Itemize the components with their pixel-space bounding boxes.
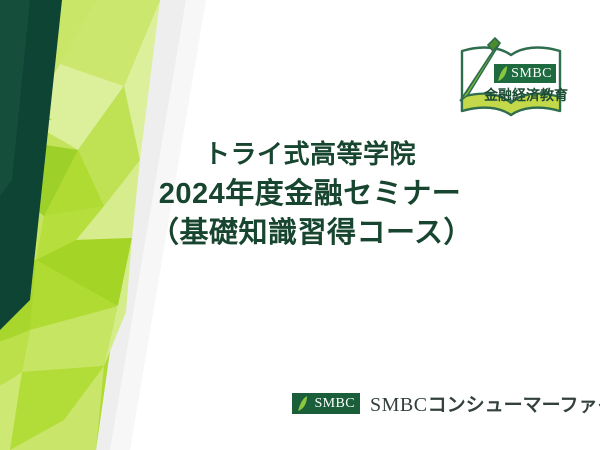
title-line-3: （基礎知識習得コース）	[150, 215, 470, 253]
education-logo-caption: 金融経済教育	[478, 85, 574, 105]
dark-green-wedge	[0, 0, 62, 330]
financial-education-logo: SMBC 金融経済教育	[448, 33, 576, 133]
education-logo-brand-text: SMBC	[511, 66, 552, 81]
company-name: SMBCコンシューマーファイナンス	[370, 390, 600, 417]
leaf-icon	[297, 396, 309, 411]
leaf-icon	[497, 66, 509, 81]
title-line-1: トライ式高等学院	[150, 138, 470, 172]
smbc-logo-text: SMBC	[314, 393, 355, 414]
slide-title: トライ式高等学院 2024年度金融セミナー （基礎知識習得コース）	[150, 138, 470, 253]
company-name-latin: SMBC	[370, 394, 428, 416]
book-icon	[448, 33, 576, 133]
corporate-logo: SMBC SMBCコンシューマーファイナンス	[292, 390, 600, 417]
green-mosaic-band	[0, 0, 160, 450]
title-line-2: 2024年度金融セミナー	[150, 176, 470, 214]
smbc-logo-mark: SMBC	[292, 393, 360, 414]
company-name-katakana: コンシューマーファイナンス	[428, 395, 600, 416]
presentation-slide: SMBC 金融経済教育 トライ式高等学院 2024年度金融セミナー （基礎知識習…	[0, 0, 600, 450]
